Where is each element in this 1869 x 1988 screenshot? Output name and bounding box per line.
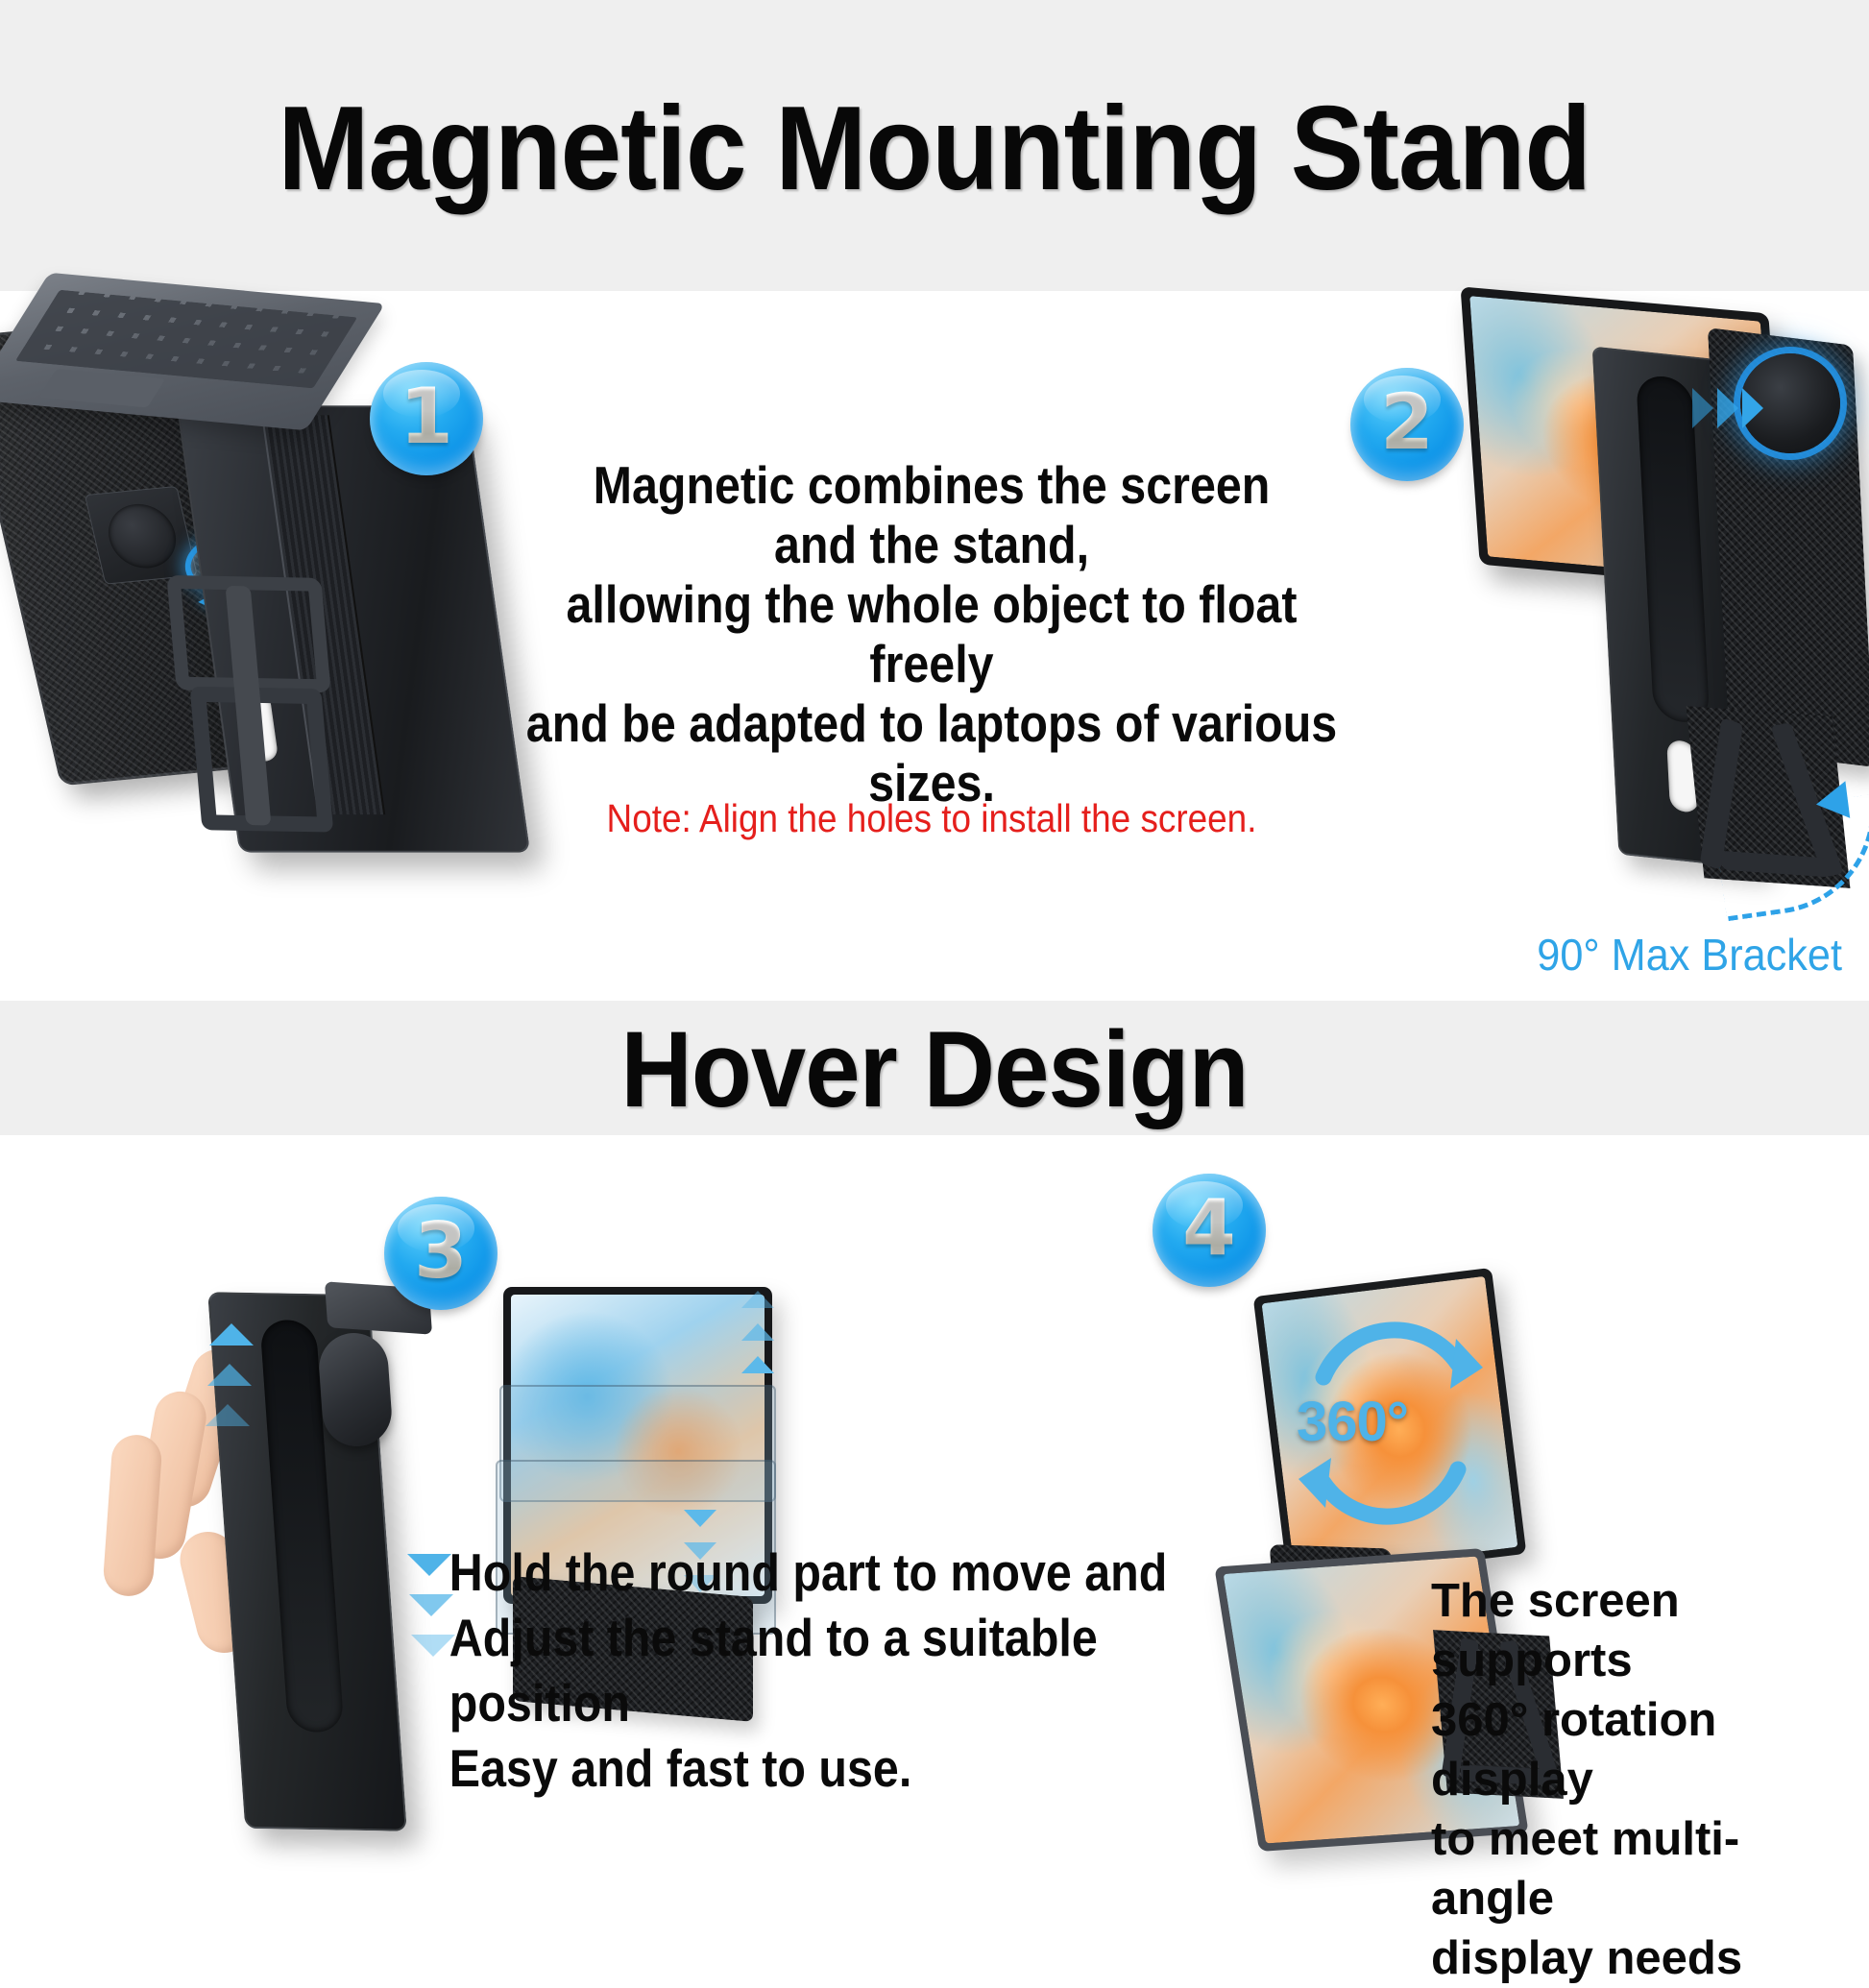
- move-up-chevron-icon: [207, 1364, 252, 1386]
- move-up-chevron-icon: [209, 1323, 254, 1346]
- move-down-chevron-icon: [407, 1554, 451, 1576]
- step-1-description: Magnetic combines the screen and the sta…: [509, 455, 1354, 812]
- step-badge-3: 3: [384, 1197, 498, 1310]
- step-badge-4: 4: [1153, 1174, 1266, 1287]
- hand-finger: [102, 1433, 163, 1597]
- screen-down-chevron-icon: [684, 1510, 716, 1527]
- header-band-hover-design: Hover Design: [0, 1001, 1869, 1135]
- rotation-degree-label: 360°: [1297, 1394, 1408, 1450]
- screen-up-chevron-icon: [741, 1356, 774, 1373]
- step-badge-4-number: 4: [1182, 1190, 1236, 1267]
- section-title-hover-design: Hover Design: [620, 1016, 1248, 1124]
- step-badge-3-number: 3: [414, 1213, 468, 1290]
- step-badge-1: 1: [370, 362, 483, 475]
- move-down-chevron-icon: [409, 1594, 453, 1616]
- attach-chevron-icon: [1692, 388, 1713, 428]
- step-badge-2: 2: [1350, 368, 1464, 481]
- step-4-description: The screen supports 360° rotation displa…: [1431, 1571, 1854, 1988]
- keyboard-trackpad: [38, 369, 165, 407]
- infographic-page: Magnetic Mounting Stand 1 Magnetic combi…: [0, 0, 1869, 1869]
- attach-chevron-icon: [1742, 388, 1763, 428]
- attach-chevron-icon: [1717, 388, 1738, 428]
- max-bracket-label: 90° Max Bracket: [1537, 930, 1842, 980]
- step-3-description: Hold the round part to move and Adjust t…: [449, 1539, 1193, 1801]
- header-band-magnetic-mounting-stand: Magnetic Mounting Stand: [0, 0, 1869, 291]
- screen-up-chevron-icon: [741, 1291, 774, 1308]
- kickstand-truss: [160, 575, 367, 846]
- step-badge-1-number: 1: [400, 378, 453, 455]
- move-up-chevron-icon: [206, 1404, 250, 1426]
- screen-up-chevron-icon: [741, 1323, 774, 1341]
- step-badge-2-number: 2: [1380, 384, 1434, 461]
- page-title-magnetic-mounting-stand: Magnetic Mounting Stand: [279, 89, 1591, 208]
- round-slider-knob[interactable]: [317, 1331, 394, 1449]
- step-1-note: Note: Align the holes to install the scr…: [543, 795, 1321, 841]
